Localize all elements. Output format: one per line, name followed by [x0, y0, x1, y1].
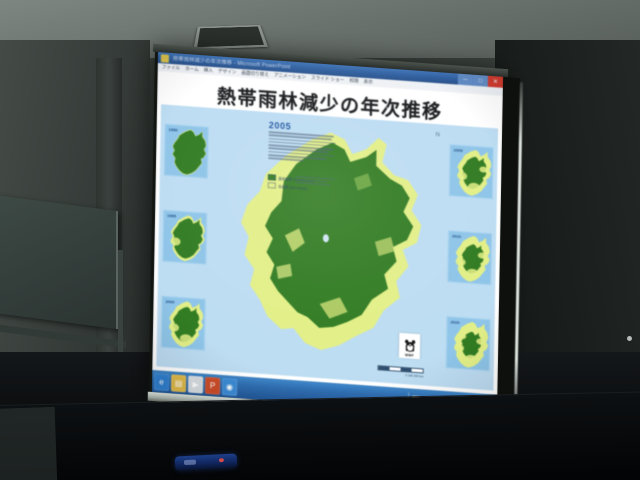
app-icon [161, 54, 169, 63]
legend-swatch-0 [268, 174, 276, 181]
right-panel-year-0: 2005 [454, 148, 463, 154]
menu-item-8[interactable]: 表示 [364, 79, 373, 86]
borneo-mini-map [162, 296, 206, 350]
right-panel-0: 2005 [449, 144, 494, 199]
left-panel-1: 1985 [162, 210, 207, 265]
left-panel-year-1: 1985 [167, 213, 176, 219]
right-panel-year-2: 2020 [450, 319, 459, 325]
whiteboard [0, 195, 118, 329]
front-desk [0, 391, 640, 480]
projection-screen: 熱帯雨林減少の年次推移 - Microsoft PowerPoint ─ □ ✕… [152, 52, 503, 417]
panda-icon [402, 338, 416, 354]
main-map-panel: 2005 森林被覆 (Forest cover)非森林 (Non-forest)… [208, 108, 446, 387]
media-player-icon[interactable]: ▶ [188, 375, 203, 393]
main-description-text [268, 131, 337, 165]
slide-canvas: 熱帯雨林減少の年次推移 195019852000 [152, 71, 502, 395]
compass-icon: N [435, 132, 439, 138]
left-panel-0: 1950 [164, 124, 209, 179]
remote-led-icon [219, 458, 224, 462]
text-line [268, 157, 303, 161]
powerpoint-icon[interactable]: P [205, 376, 220, 394]
left-panel-year-0: 1950 [169, 127, 178, 133]
wall-indicator-light [627, 336, 632, 341]
room-scene: 熱帯雨林減少の年次推移 - Microsoft PowerPoint ─ □ ✕… [0, 0, 640, 480]
right-panel-2: 2020 [446, 316, 491, 371]
left-panel-column: 195019852000 [156, 104, 213, 370]
borneo-mini-map [163, 211, 207, 265]
right-panel-1: 2010 [447, 230, 492, 285]
borneo-mini-map [450, 145, 494, 199]
remote-display [184, 460, 196, 466]
borneo-mini-map [447, 317, 491, 371]
taskbar-icon-group: e▤▶P◉ [154, 373, 237, 396]
browser-icon[interactable]: ◉ [222, 378, 237, 396]
legend-swatch-1 [268, 182, 276, 189]
internet-explorer-icon[interactable]: e [154, 373, 169, 391]
menu-item-7[interactable]: 校閲 [349, 78, 358, 85]
folder-explorer-icon[interactable]: ▤ [171, 374, 186, 392]
left-panel-year-2: 2000 [165, 299, 174, 305]
ceiling-vent [193, 25, 267, 50]
borneo-mini-map [448, 231, 492, 285]
main-map-year: 2005 [269, 120, 292, 132]
text-line [296, 182, 331, 186]
left-desk-panel [0, 407, 57, 480]
left-panel-2: 2000 [161, 295, 206, 350]
right-panel-year-1: 2010 [452, 233, 461, 239]
menu-item-2[interactable]: 挿入 [204, 67, 213, 74]
menu-item-1[interactable]: ホーム [185, 66, 199, 73]
slide-body: 195019852000 [156, 104, 498, 390]
right-panel-column: 200520102020 [441, 125, 498, 391]
borneo-mini-map [165, 125, 209, 179]
wwf-panda-logo: WWF [399, 333, 420, 360]
wwf-wordmark: WWF [399, 352, 420, 358]
projected-desktop: 熱帯雨林減少の年次推移 - Microsoft PowerPoint ─ □ ✕… [152, 52, 503, 417]
